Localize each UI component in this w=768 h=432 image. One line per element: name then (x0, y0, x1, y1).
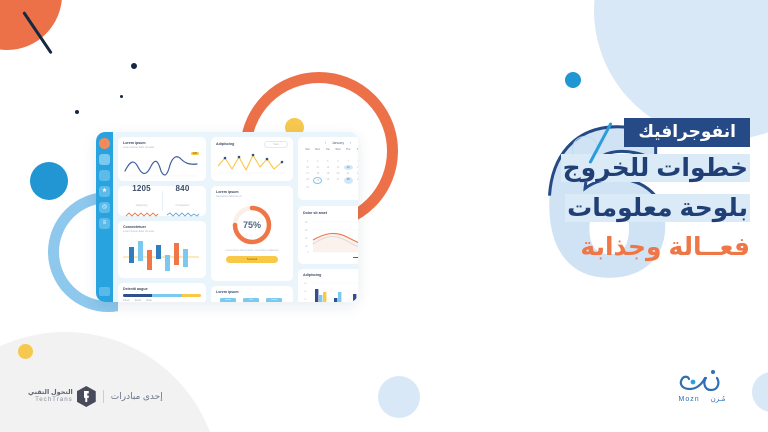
calendar-month-label: January (332, 141, 344, 145)
calendar-dow-4: Thu (344, 147, 353, 152)
timeline-pill-top-0[interactable]: Lorem (220, 298, 236, 302)
area-legend: Lorem Ipsum (303, 256, 358, 259)
calendar-day[interactable]: 1 (354, 153, 358, 158)
image-icon[interactable] (99, 170, 110, 181)
stat-spark-2 (166, 211, 200, 218)
calendar-grid: Sun Mon Tue Wed Thu Fri Sat (303, 147, 358, 190)
calendar-day[interactable]: 24 (303, 177, 312, 184)
headline-line-2: بلوحة معلومات (450, 191, 750, 227)
headline-text-2: بلوحة معلومات (565, 194, 750, 222)
calendar-day[interactable]: 10 (303, 165, 312, 170)
calendar-day[interactable] (313, 153, 322, 158)
dashboard-column-2: Adipiscing View Lorem (211, 137, 293, 302)
chevron-right-icon[interactable]: › (350, 141, 351, 145)
calendar-day[interactable] (303, 153, 312, 158)
mozn-english: Mozn (679, 396, 700, 403)
decor-dot-blue-left (30, 162, 68, 200)
candlestick-card: Consectetuer Lorem ipsum dolor sit amet (118, 221, 206, 278)
calendar-day[interactable]: 19 (323, 171, 332, 176)
menu-icon[interactable]: ≡ (99, 218, 110, 229)
progress-legend: Lorem Ipsum Dolor (123, 299, 201, 302)
calendar-day[interactable]: 20 (333, 171, 342, 176)
dashboard-column-1: Lorem ipsum Lorem ipsum dolor sit amet 1… (118, 137, 206, 302)
calendar-day[interactable]: 13 (333, 165, 342, 170)
footer-divider (103, 390, 104, 403)
stat-block-1: 1205 Adipiscing (125, 184, 159, 218)
decor-dot-yellow-bottom-left (18, 344, 33, 359)
timeline-card-title: Lorem ipsum (216, 290, 288, 295)
candlestick-svg (123, 237, 199, 277)
area-chart-card: Dolor sit amet All time 8060 (298, 206, 358, 264)
svg-text:60: 60 (304, 283, 307, 285)
infographic-badge: انفوجرافيك (624, 118, 750, 147)
donut-progress-card: Lorem ipsum Sed autem laborum et 75% Lor… (211, 186, 293, 281)
area-legend-swatch-0 (353, 257, 358, 258)
donut-percent-text: 75% (243, 220, 261, 230)
svg-text:0: 0 (307, 251, 309, 254)
calendar-dow-2: Tue (323, 147, 332, 152)
decor-dot-blue-top (565, 72, 581, 88)
calendar-dow-1: Mon (313, 147, 322, 152)
progress-legend-1: Ipsum (135, 299, 142, 302)
calendar-day[interactable]: 3 (303, 159, 312, 164)
dashboard-sidebar: ★ ◎ ≡ (96, 132, 113, 302)
svg-text:60: 60 (305, 229, 308, 232)
calendar-card: ‹ January › Sun Mon Tue Wed Thu Fri Sat (298, 137, 358, 200)
calendar-day[interactable]: 8 (354, 159, 358, 164)
stat-value-1: 1205 (125, 184, 159, 193)
line-chart-svg (123, 153, 199, 179)
calendar-day-selected[interactable]: 28 (344, 177, 353, 184)
donut-submit-button[interactable]: Suscipit (226, 256, 278, 263)
calendar-day[interactable]: 29 (354, 177, 358, 184)
calendar-day[interactable]: 31 (303, 185, 312, 190)
sparkline-svg (216, 150, 286, 177)
timeline-pill-top-1[interactable]: Est (243, 298, 259, 302)
headline-block: 6 6 انفوجرافيك خطوات للخروج بلوحة معلوما… (450, 118, 750, 308)
calendar-dow-3: Wed (333, 147, 342, 152)
decor-curve-bottom-left (0, 332, 220, 432)
svg-text:40: 40 (305, 237, 308, 240)
star-icon[interactable]: ★ (99, 186, 110, 197)
footer-initiative: إحدى مبادرات التحول التقني TechTrans (28, 386, 163, 407)
headline-text-1: خطوات للخروج (561, 154, 750, 182)
calendar-day[interactable]: 17 (303, 171, 312, 176)
timeline-card: Lorem ipsum Lorem Est Lorem Lorem Dolor … (211, 286, 293, 302)
progress-legend-2: Dolor (146, 299, 152, 302)
mozn-logo: Mozn مُـزن (654, 368, 750, 403)
techtrans-english: TechTrans (28, 397, 73, 404)
clock-icon[interactable]: ◎ (99, 202, 110, 213)
mozn-arabic: مُـزن (711, 396, 726, 403)
donut-card-subtitle: Sed autem laborum et (216, 195, 242, 199)
logout-icon[interactable] (99, 287, 110, 296)
calendar-day[interactable] (323, 153, 332, 158)
progress-track (123, 294, 201, 297)
dashboard-column-3: ‹ January › Sun Mon Tue Wed Thu Fri Sat (298, 137, 358, 302)
techtrans-logo: التحول التقني TechTrans (28, 386, 96, 407)
progress-card-title: Deleniti augue (123, 287, 201, 292)
sparkline-card-title: Adipiscing (216, 142, 234, 147)
progress-legend-0: Lorem (123, 299, 130, 302)
line-card-subtitle: Lorem ipsum dolor sit amet (123, 146, 201, 150)
decor-circle-right-edge (752, 372, 768, 412)
calendar-day[interactable]: 6 (333, 159, 342, 164)
stat-label-2: Consectetur (176, 204, 190, 207)
stats-card: 1205 Adipiscing 840 Consectetur (118, 186, 206, 216)
calendar-dow-0: Sun (303, 147, 312, 152)
donut-description: Lorem ipsum dolor sit amet, consectetuer… (226, 250, 279, 253)
mozn-logo-icon (673, 368, 731, 394)
svg-text:40: 40 (304, 291, 307, 293)
headline-text-3: فعــالة وجذابة (580, 233, 750, 261)
chevron-left-icon[interactable]: ‹ (325, 141, 326, 145)
svg-text:20: 20 (304, 299, 307, 301)
dashboard-mockup: ★ ◎ ≡ Lorem ipsum Lorem ipsum dolor sit … (96, 132, 358, 302)
stat-value-2: 840 (166, 184, 200, 193)
bar-chart-card: Adipiscing 6040 200 (298, 269, 358, 302)
headline-line-1: خطوات للخروج (450, 151, 750, 187)
calendar-day[interactable]: 12 (323, 165, 332, 170)
calendar-day[interactable]: 21 (344, 171, 353, 176)
bars-card-title: Adipiscing (303, 273, 358, 278)
decor-dot-b (75, 110, 79, 114)
sparkline-card: Adipiscing View (211, 137, 293, 181)
calendar-day[interactable]: 18 (313, 171, 322, 176)
poster-canvas: ★ ◎ ≡ Lorem ipsum Lorem ipsum dolor sit … (0, 0, 768, 432)
line-chart-card: Lorem ipsum Lorem ipsum dolor sit amet 1… (118, 137, 206, 181)
timeline-pill-top-2[interactable]: Lorem (266, 298, 282, 302)
calendar-day[interactable]: 4 (313, 159, 322, 164)
svg-text:80: 80 (305, 221, 308, 224)
avatar-icon[interactable] (99, 138, 110, 149)
calendar-day[interactable] (344, 153, 353, 158)
headline-line-3: فعــالة وجذابة (450, 230, 750, 266)
calendar-day[interactable] (333, 153, 342, 158)
stat-spark-1 (125, 211, 159, 218)
bar-chart-svg: 6040 200 (303, 279, 358, 302)
area-card-title: Dolor sit amet (303, 211, 327, 216)
calendar-day[interactable]: 15 (354, 165, 358, 170)
calendar-day[interactable]: 27 (333, 177, 342, 184)
calendar-day[interactable]: 7 (344, 159, 353, 164)
stats-divider (162, 191, 163, 211)
progress-bar-card: Deleniti augue Lorem Ipsum Dolor (118, 283, 206, 302)
calendar-day-selected[interactable]: 14 (344, 165, 353, 170)
area-chart-svg: 8060 40200 (303, 218, 358, 256)
dashboard-content: Lorem ipsum Lorem ipsum dolor sit amet 1… (113, 132, 358, 302)
calendar-day[interactable]: 11 (313, 165, 322, 170)
decor-circle-bottom-center (378, 376, 420, 418)
stat-block-2: 840 Consectetur (166, 184, 200, 218)
decor-dot-a (131, 63, 137, 69)
calendar-dow-5: Fri (354, 147, 358, 152)
home-icon[interactable] (99, 154, 110, 165)
calendar-header: ‹ January › (303, 141, 358, 145)
initiative-label: إحدى مبادرات (111, 391, 163, 402)
stat-label-1: Adipiscing (136, 204, 148, 207)
calendar-day[interactable]: 26 (323, 177, 332, 184)
techtrans-hex-logo (77, 386, 96, 407)
decor-dot-c (120, 95, 123, 98)
line-card-badge: 120 (191, 152, 199, 155)
donut-progress-svg: 75% (229, 202, 275, 248)
svg-text:20: 20 (305, 245, 308, 248)
candle-card-subtitle: Lorem ipsum dolor sit amet (123, 230, 201, 234)
sparkline-view-button[interactable]: View (264, 141, 288, 148)
calendar-day[interactable]: 25 (313, 177, 322, 184)
mozn-wordmark: Mozn مُـزن (654, 395, 750, 403)
calendar-day[interactable]: 5 (323, 159, 332, 164)
calendar-day[interactable]: 22 (354, 171, 358, 176)
